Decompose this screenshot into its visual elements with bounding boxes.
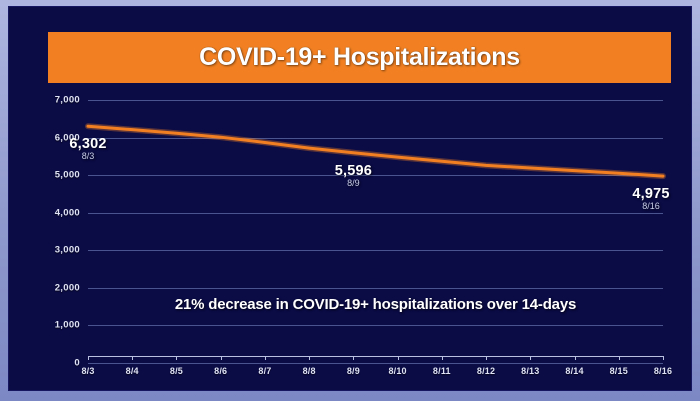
x-axis-tick-label: 8/9 — [347, 366, 360, 376]
x-axis-tick-label: 8/14 — [565, 366, 583, 376]
x-axis-tick-mark — [132, 356, 133, 360]
chart-plot-area: 01,0002,0003,0004,0005,0006,0007,000 8/3… — [8, 6, 692, 391]
x-axis-tick-mark — [663, 356, 664, 360]
data-label-value: 6,302 — [69, 136, 106, 152]
x-axis-tick-label: 8/11 — [433, 366, 451, 376]
x-axis-line — [88, 356, 663, 357]
x-axis-tick-label: 8/4 — [126, 366, 139, 376]
x-axis-tick-mark — [442, 356, 443, 360]
x-axis-tick-label: 8/16 — [654, 366, 672, 376]
x-axis-tick-label: 8/6 — [214, 366, 227, 376]
x-axis-tick-label: 8/7 — [258, 366, 271, 376]
slide-canvas: COVID-19+ Hospitalizations 01,0002,0003,… — [8, 6, 692, 391]
data-label: 6,3028/3 — [69, 136, 106, 161]
x-axis-tick-mark — [530, 356, 531, 360]
data-label: 4,9758/16 — [632, 186, 669, 211]
data-label-date: 8/16 — [632, 201, 669, 211]
x-axis-tick-mark — [221, 356, 222, 360]
x-axis-tick-label: 8/3 — [81, 366, 94, 376]
x-axis-tick-mark — [486, 356, 487, 360]
chart-annotation: 21% decrease in COVID-19+ hospitalizatio… — [88, 296, 663, 313]
x-axis-tick-label: 8/5 — [170, 366, 183, 376]
data-label-date: 8/9 — [335, 178, 372, 188]
data-label-value: 4,975 — [632, 186, 669, 202]
x-axis-tick-mark — [398, 356, 399, 360]
x-axis-tick-mark — [353, 356, 354, 360]
data-label: 5,5968/9 — [335, 163, 372, 188]
x-axis-tick-mark — [619, 356, 620, 360]
data-label-date: 8/3 — [69, 151, 106, 161]
x-axis-tick-label: 8/10 — [388, 366, 406, 376]
x-axis-tick-mark — [309, 356, 310, 360]
x-axis-tick-label: 8/12 — [477, 366, 495, 376]
x-axis-tick-label: 8/8 — [303, 366, 316, 376]
x-axis-tick-mark — [176, 356, 177, 360]
x-axis-tick-label: 8/13 — [521, 366, 539, 376]
line-series — [8, 6, 692, 391]
data-label-value: 5,596 — [335, 163, 372, 179]
x-axis-tick-mark — [88, 356, 89, 360]
x-axis-tick-label: 8/15 — [610, 366, 628, 376]
x-axis-tick-mark — [575, 356, 576, 360]
x-axis-tick-mark — [265, 356, 266, 360]
